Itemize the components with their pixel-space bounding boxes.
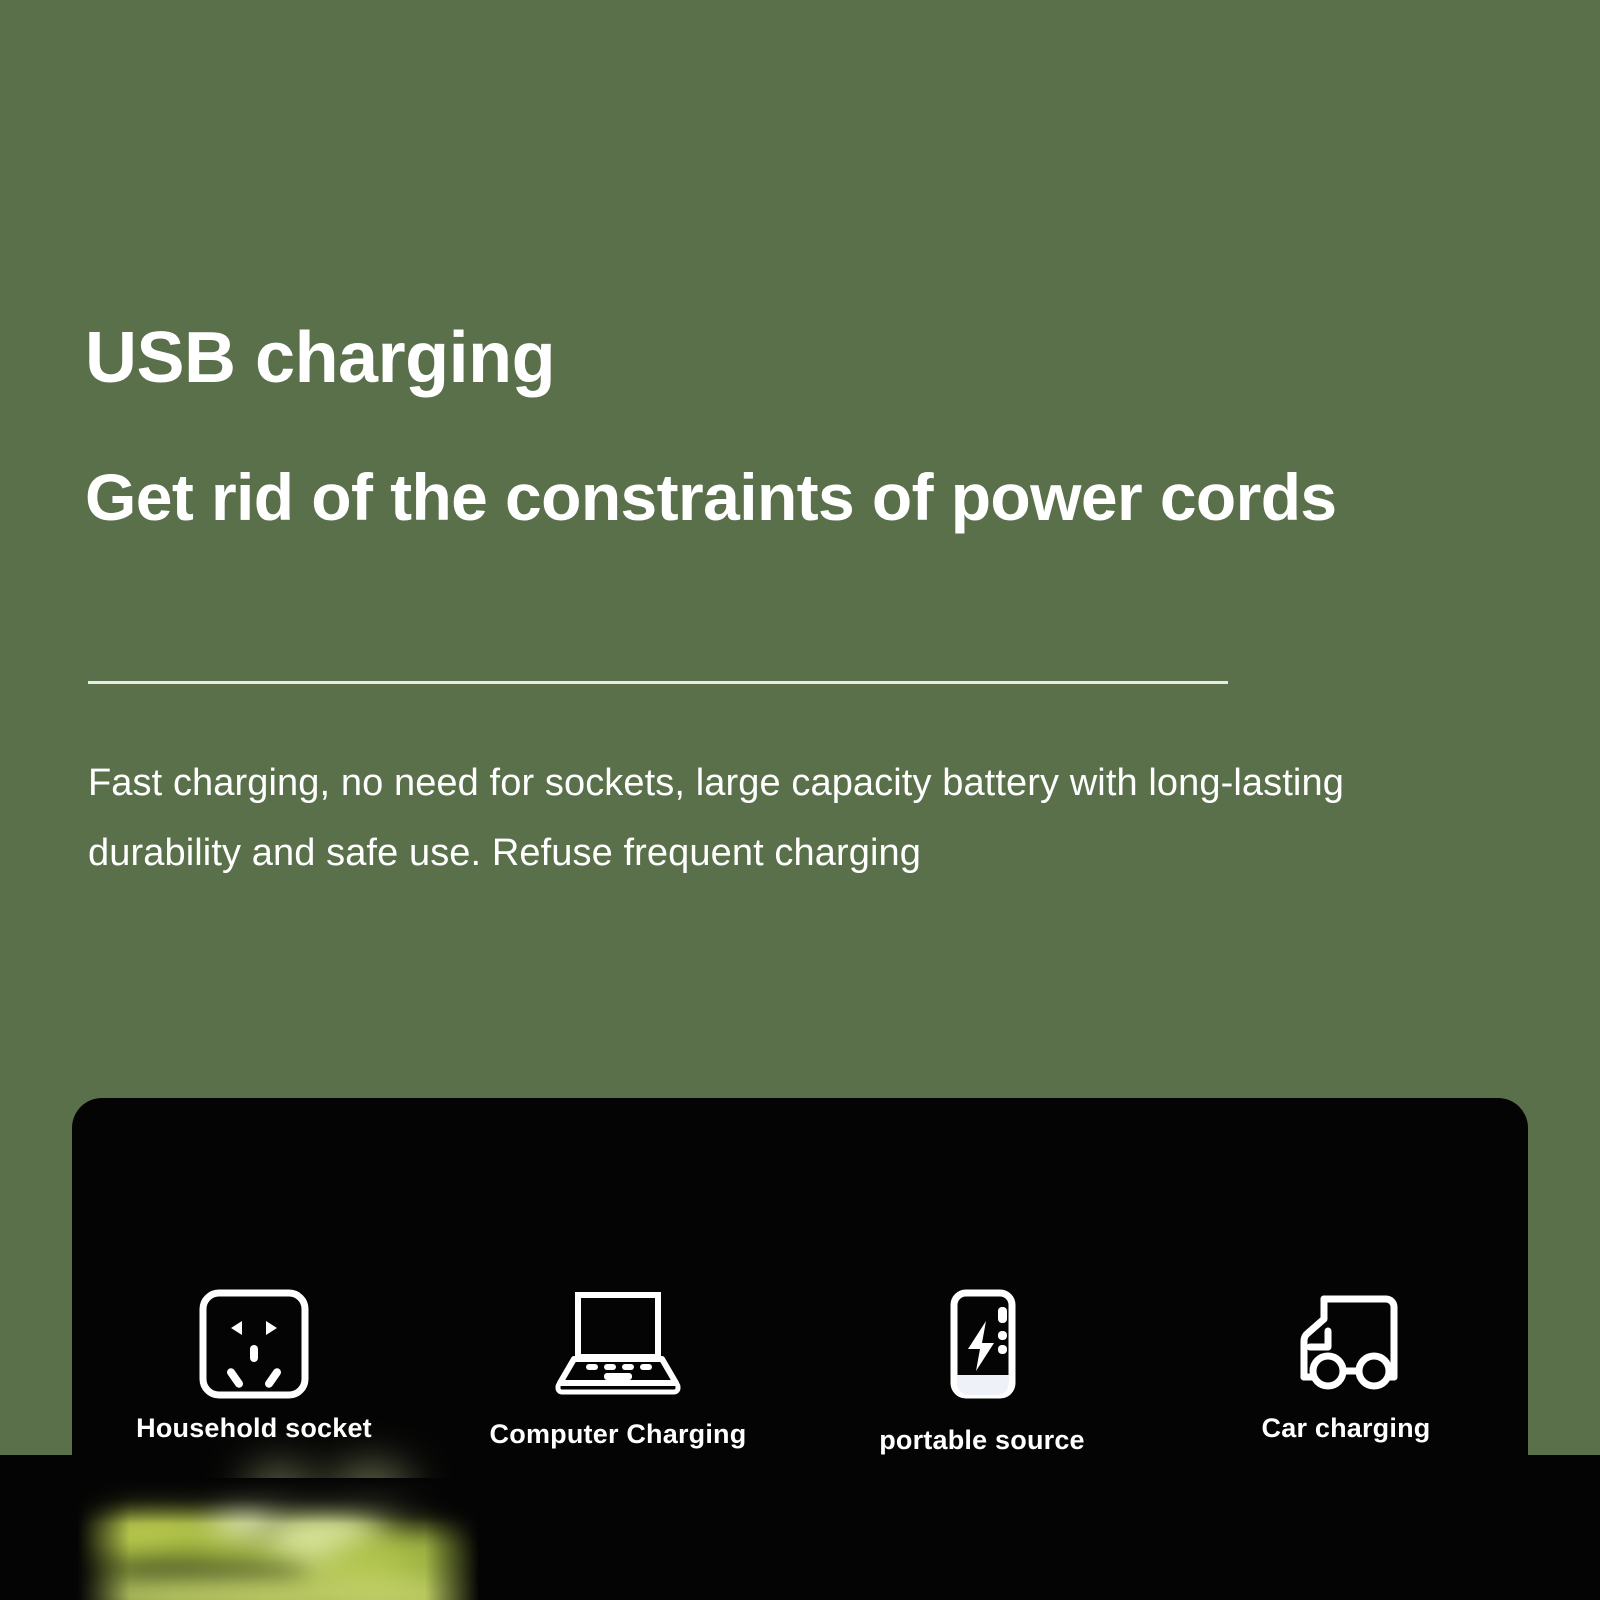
feature-computer-charging: Computer Charging: [436, 1285, 800, 1456]
feature-label: Household socket: [136, 1413, 372, 1444]
description-line-1: Fast charging, no need for sockets, larg…: [88, 748, 1488, 818]
horizontal-divider: [88, 681, 1228, 684]
car-icon: [1282, 1285, 1410, 1395]
description-line-2: durability and safe use. Refuse frequent…: [88, 818, 1488, 888]
feature-icon-row: Household socket Computer Charging: [72, 1285, 1528, 1456]
power-bank-icon: [930, 1285, 1034, 1395]
feature-label: Computer Charging: [490, 1419, 747, 1450]
plant-photo: [70, 1478, 485, 1600]
promo-banner: USB charging Get rid of the constraints …: [0, 0, 1600, 1600]
page-title: USB charging: [85, 318, 1545, 399]
feature-portable-source: portable source: [800, 1285, 1164, 1456]
power-socket-icon: [195, 1285, 313, 1395]
feature-household-socket: Household socket: [72, 1285, 436, 1456]
page-subtitle: Get rid of the constraints of power cord…: [85, 461, 1545, 535]
heading-block: USB charging Get rid of the constraints …: [85, 318, 1545, 535]
laptop-icon: [548, 1285, 688, 1395]
feature-label: portable source: [879, 1425, 1085, 1456]
feature-car-charging: Car charging: [1164, 1285, 1528, 1456]
description-text: Fast charging, no need for sockets, larg…: [88, 748, 1488, 889]
feature-label: Car charging: [1262, 1413, 1431, 1444]
